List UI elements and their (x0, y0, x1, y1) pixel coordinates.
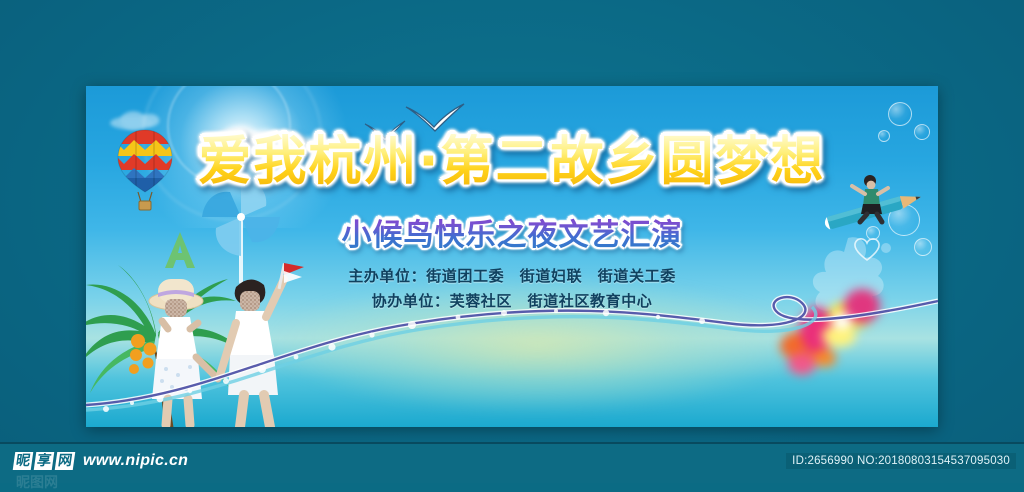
organizer-line-main: 主办单位：街道团工委 街道妇联 街道关工委 (86, 264, 938, 289)
poster-sub-title-container: 小候鸟快乐之夜文艺汇演 (86, 210, 938, 254)
organizer-line-co: 协办单位：芙蓉社区 街道社区教育中心 (86, 289, 938, 314)
site-logo-cn-characters: 昵 享 网 (14, 452, 74, 470)
poster-artwork: 爱我杭州·第二故乡圆梦想 小候鸟快乐之夜文艺汇演 主办单位：街道团工委 街道妇联… (86, 86, 938, 427)
organizer-block: 主办单位：街道团工委 街道妇联 街道关工委 协办单位：芙蓉社区 街道社区教育中心 (86, 264, 938, 314)
logo-char-2: 享 (34, 452, 55, 470)
poster-main-title: 爱我杭州·第二故乡圆梦想 (198, 134, 825, 189)
bubble-icon (888, 102, 912, 126)
screenshot-root: 爱我杭州·第二故乡圆梦想 小候鸟快乐之夜文艺汇演 主办单位：街道团工委 街道妇联… (0, 0, 1024, 481)
site-logo[interactable]: 昵 享 网 www.nipic.cn (14, 452, 188, 470)
poster-sub-title: 小候鸟快乐之夜文艺汇演 (342, 210, 683, 254)
asset-id-label: ID:2656990 NO:20180803154537095030 (786, 453, 1016, 469)
site-footer-bar: 昵 享 网 www.nipic.cn 昵图网 ID:2656990 NO:201… (0, 442, 1024, 483)
site-url-label: www.nipic.cn (83, 452, 188, 470)
seagull-icon (404, 102, 466, 132)
footer-watermark: 昵图网 (16, 472, 58, 492)
logo-char-3: 网 (55, 452, 76, 470)
poster-main-title-container: 爱我杭州·第二故乡圆梦想 (86, 134, 938, 189)
logo-char-1: 昵 (13, 452, 34, 470)
